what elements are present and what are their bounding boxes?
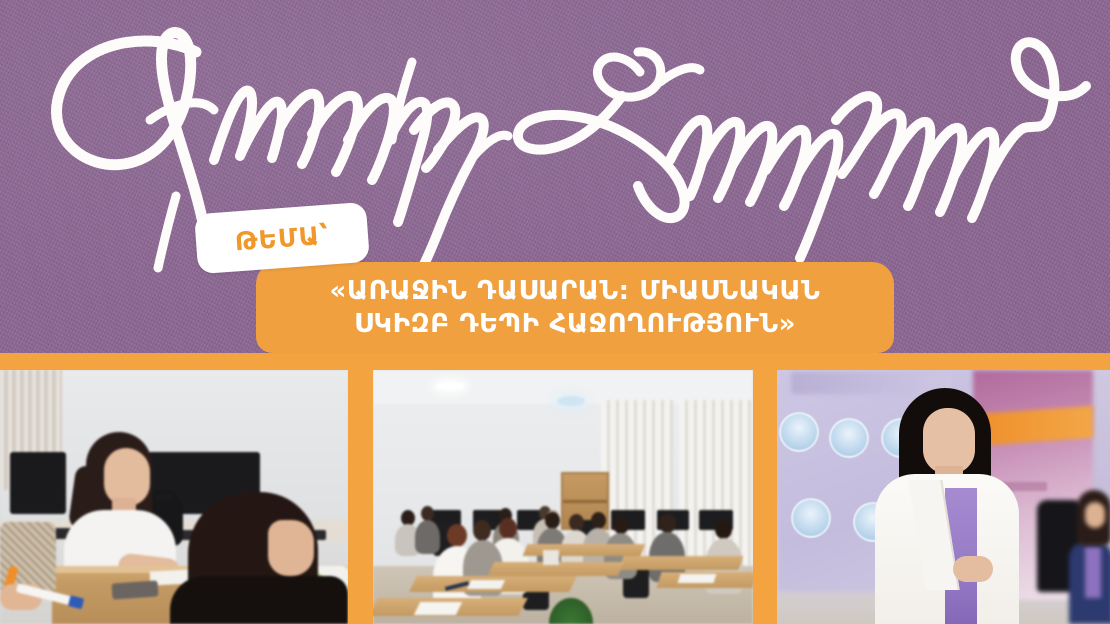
poster-root: ԹԵՄԱ՝ «ԱՌԱՋԻՆ ԴԱՍԱՐԱՆ: ՄԻԱՍՆԱԿԱՆ ՍԿԻԶԲ Դ… bbox=[0, 0, 1110, 624]
photo-3-scene bbox=[777, 370, 1110, 624]
title-line-1: «ԱՌԱՋԻՆ ԴԱՍԱՐԱՆ: ՄԻԱՍՆԱԿԱՆ bbox=[330, 276, 821, 307]
photo-3 bbox=[777, 370, 1110, 624]
title-plate: «ԱՌԱՋԻՆ ԴԱՍԱՐԱՆ: ՄԻԱՍՆԱԿԱՆ ՍԿԻԶԲ ԴԵՊԻ ՀԱ… bbox=[256, 262, 894, 353]
photo-2-scene bbox=[373, 370, 753, 624]
photo-1-scene bbox=[0, 370, 348, 624]
topic-badge-label: ԹԵՄԱ՝ bbox=[234, 222, 330, 254]
script-title bbox=[0, 0, 1110, 300]
title-line-2: ՍԿԻԶԲ ԴԵՊԻ ՀԱՋՈՂՈՒԹՅՈՒՆ» bbox=[354, 309, 796, 340]
photo-2 bbox=[373, 370, 753, 624]
script-title-svg bbox=[0, 0, 1110, 300]
poster-header: ԹԵՄԱ՝ «ԱՌԱՋԻՆ ԴԱՍԱՐԱՆ: ՄԻԱՍՆԱԿԱՆ ՍԿԻԶԲ Դ… bbox=[0, 0, 1110, 353]
photo-1 bbox=[0, 370, 348, 624]
topic-badge: ԹԵՄԱ՝ bbox=[194, 202, 370, 274]
photo-strip bbox=[0, 370, 1110, 624]
